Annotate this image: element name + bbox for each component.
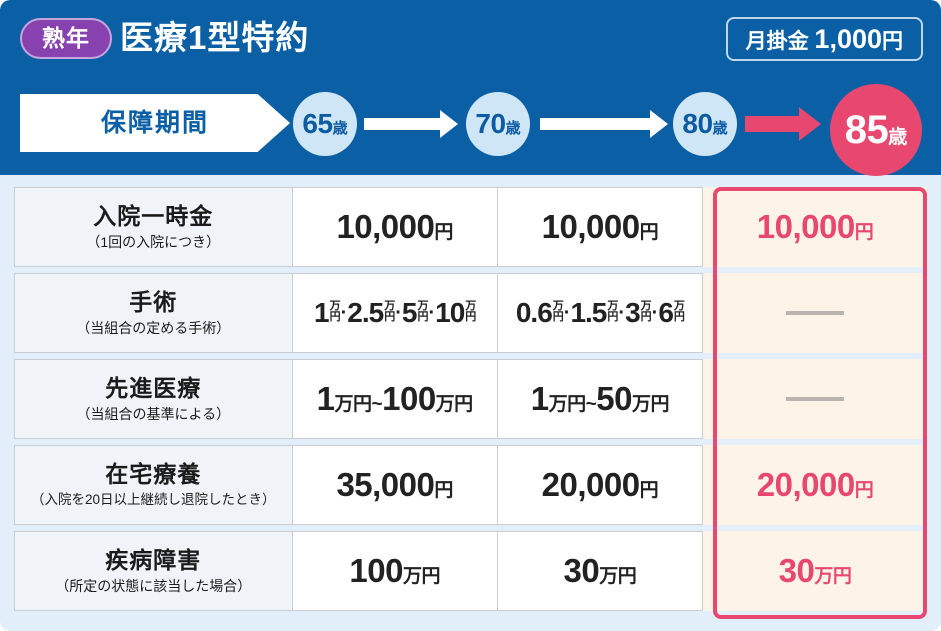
premium-label: 月掛金 xyxy=(746,30,809,53)
timeline-arrow-70-to-80 xyxy=(540,118,650,130)
value-text: 30 xyxy=(779,552,815,589)
cell-age70-hospitalization: 10,000円 xyxy=(498,187,703,267)
card-header: 熟年 医療1型特約 月掛金 1,000円 保障期間 65歳 70歳 80歳 xyxy=(0,0,941,175)
value-text: 6 xyxy=(658,297,673,329)
age-milestone-70: 70歳 xyxy=(466,92,530,156)
value-unit: 円 xyxy=(640,222,659,243)
value-text: 2.5 xyxy=(347,297,383,329)
value-unit: 円 xyxy=(855,480,874,501)
separator-dot: · xyxy=(428,302,434,325)
unit-yen: 円 xyxy=(330,312,340,323)
separator-dot: · xyxy=(652,302,658,325)
table-row: 先進医療 （当組合の基準による） 1万円~100万円 1万円~50万円 xyxy=(14,359,927,439)
value-text: 35,000 xyxy=(336,466,434,503)
value-text: 10,000 xyxy=(757,208,855,245)
row-subtitle: （当組合の基準による） xyxy=(76,404,230,424)
cell-age85-surgery xyxy=(703,273,927,353)
timeline-arrow-65-to-70 xyxy=(364,118,440,130)
value-unit: 万円 xyxy=(599,566,636,587)
cell-age85-home-care: 20,000円 xyxy=(703,445,927,525)
value-text: 20,000 xyxy=(542,466,640,503)
age-85-unit: 歳 xyxy=(888,127,907,148)
row-subtitle: （当組合の定める手術） xyxy=(76,318,230,338)
value-unit: 万円 xyxy=(403,566,440,587)
cell-age70-advanced-medical: 1万円~50万円 xyxy=(498,359,703,439)
value-unit: 万円 xyxy=(814,566,851,587)
age-80-number: 80 xyxy=(682,108,712,139)
value-text: 3 xyxy=(625,297,640,329)
premium-unit: 円 xyxy=(882,30,903,53)
value-unit: 円 xyxy=(855,222,874,243)
table-row: 在宅療養 （入院を20日以上継続し退院したとき） 35,000円 20,000円… xyxy=(14,445,927,525)
age-milestone-65: 65歳 xyxy=(293,92,357,156)
plan-category-badge: 熟年 xyxy=(20,18,112,59)
cell-age70-surgery: 0.6万円·1.5万円·3万円·6万円 xyxy=(498,273,703,353)
premium-amount: 1,000 xyxy=(814,24,882,54)
not-available-dash xyxy=(786,397,844,401)
cell-age85-advanced-medical xyxy=(703,359,927,439)
row-label-home-care: 在宅療養 （入院を20日以上継続し退院したとき） xyxy=(14,445,293,525)
row-label-advanced-medical: 先進医療 （当組合の基準による） xyxy=(14,359,293,439)
value-text-max: 50 xyxy=(596,380,632,417)
cell-age65-advanced-medical: 1万円~100万円 xyxy=(293,359,498,439)
benefit-table: 入院一時金 （1回の入院につき） 10,000円 10,000円 10,000円… xyxy=(0,175,941,631)
value-unit: 円 xyxy=(434,222,453,243)
row-title: 疾病障害 xyxy=(105,546,201,574)
row-label-surgery: 手術 （当組合の定める手術） xyxy=(14,273,293,353)
row-label-disease-disability: 疾病障害 （所定の状態に該当した場合） xyxy=(14,531,293,611)
coverage-period-label: 保障期間 xyxy=(20,94,290,152)
cell-age65-home-care: 35,000円 xyxy=(293,445,498,525)
age-85-number: 85 xyxy=(845,108,889,152)
unit-yen: 円 xyxy=(384,312,394,323)
unit-yen: 円 xyxy=(417,312,427,323)
unit-yen: 円 xyxy=(674,312,684,323)
separator-dot: · xyxy=(618,302,624,325)
age-milestone-85: 85歳 xyxy=(830,84,922,176)
not-available-dash xyxy=(786,311,844,315)
cell-age70-home-care: 20,000円 xyxy=(498,445,703,525)
value-text: 10,000 xyxy=(336,208,434,245)
value-text: 1 xyxy=(317,380,335,417)
age-70-number: 70 xyxy=(475,108,505,139)
value-text: 1.5 xyxy=(570,297,606,329)
unit-yen: 円 xyxy=(465,312,475,323)
value-text: 10,000 xyxy=(542,208,640,245)
cell-age85-hospitalization: 10,000円 xyxy=(703,187,927,267)
value-text-max: 100 xyxy=(382,380,436,417)
header-top-row: 熟年 医療1型特約 月掛金 1,000円 xyxy=(0,0,941,82)
separator-dot: · xyxy=(341,302,347,325)
value-unit-range: 万円~ xyxy=(335,394,383,415)
value-unit-range: 万円~ xyxy=(549,394,597,415)
row-label-hospitalization-lump-sum: 入院一時金 （1回の入院につき） xyxy=(14,187,293,267)
value-unit: 万円 xyxy=(632,394,669,415)
age-65-unit: 歳 xyxy=(333,120,348,137)
value-text: 30 xyxy=(564,552,600,589)
row-subtitle: （所定の状態に該当した場合） xyxy=(55,576,251,596)
age-milestone-80: 80歳 xyxy=(673,92,737,156)
value-text: 20,000 xyxy=(757,466,855,503)
cell-age85-disease-disability: 30万円 xyxy=(703,531,927,611)
coverage-timeline: 保障期間 65歳 70歳 80歳 85歳 xyxy=(0,84,941,164)
unit-yen: 円 xyxy=(553,312,563,323)
value-text: 100 xyxy=(349,552,403,589)
age-80-unit: 歳 xyxy=(713,120,728,137)
value-text: 10 xyxy=(435,297,464,329)
timeline-arrow-80-to-85-highlight xyxy=(745,116,799,132)
separator-dot: · xyxy=(564,302,570,325)
age-65-number: 65 xyxy=(302,108,332,139)
row-title: 手術 xyxy=(129,288,177,316)
page-title: 医療1型特約 xyxy=(120,14,309,62)
value-text: 1 xyxy=(314,297,329,329)
table-row: 疾病障害 （所定の状態に該当した場合） 100万円 30万円 30万円 xyxy=(14,531,927,611)
value-text: 5 xyxy=(402,297,417,329)
unit-yen: 円 xyxy=(641,312,651,323)
cell-age70-disease-disability: 30万円 xyxy=(498,531,703,611)
row-subtitle: （入院を20日以上継続し退院したとき） xyxy=(31,490,276,510)
insurance-plan-card: 熟年 医療1型特約 月掛金 1,000円 保障期間 65歳 70歳 80歳 xyxy=(0,0,941,631)
row-title: 入院一時金 xyxy=(93,202,213,230)
row-title: 先進医療 xyxy=(105,374,201,402)
value-text: 0.6 xyxy=(516,297,552,329)
cell-age65-hospitalization: 10,000円 xyxy=(293,187,498,267)
value-text: 1 xyxy=(531,380,549,417)
value-unit: 万円 xyxy=(436,394,473,415)
table-row: 手術 （当組合の定める手術） 1万円·2.5万円·5万円·10万円 0.6万円·… xyxy=(14,273,927,353)
row-title: 在宅療養 xyxy=(105,460,201,488)
row-subtitle: （1回の入院につき） xyxy=(86,232,220,252)
unit-yen: 円 xyxy=(607,312,617,323)
value-unit: 円 xyxy=(434,480,453,501)
table-row: 入院一時金 （1回の入院につき） 10,000円 10,000円 10,000円 xyxy=(14,187,927,267)
age-70-unit: 歳 xyxy=(506,120,521,137)
cell-age65-surgery: 1万円·2.5万円·5万円·10万円 xyxy=(293,273,498,353)
value-unit: 円 xyxy=(640,480,659,501)
separator-dot: · xyxy=(395,302,401,325)
cell-age65-disease-disability: 100万円 xyxy=(293,531,498,611)
monthly-premium-badge: 月掛金 1,000円 xyxy=(726,17,923,61)
